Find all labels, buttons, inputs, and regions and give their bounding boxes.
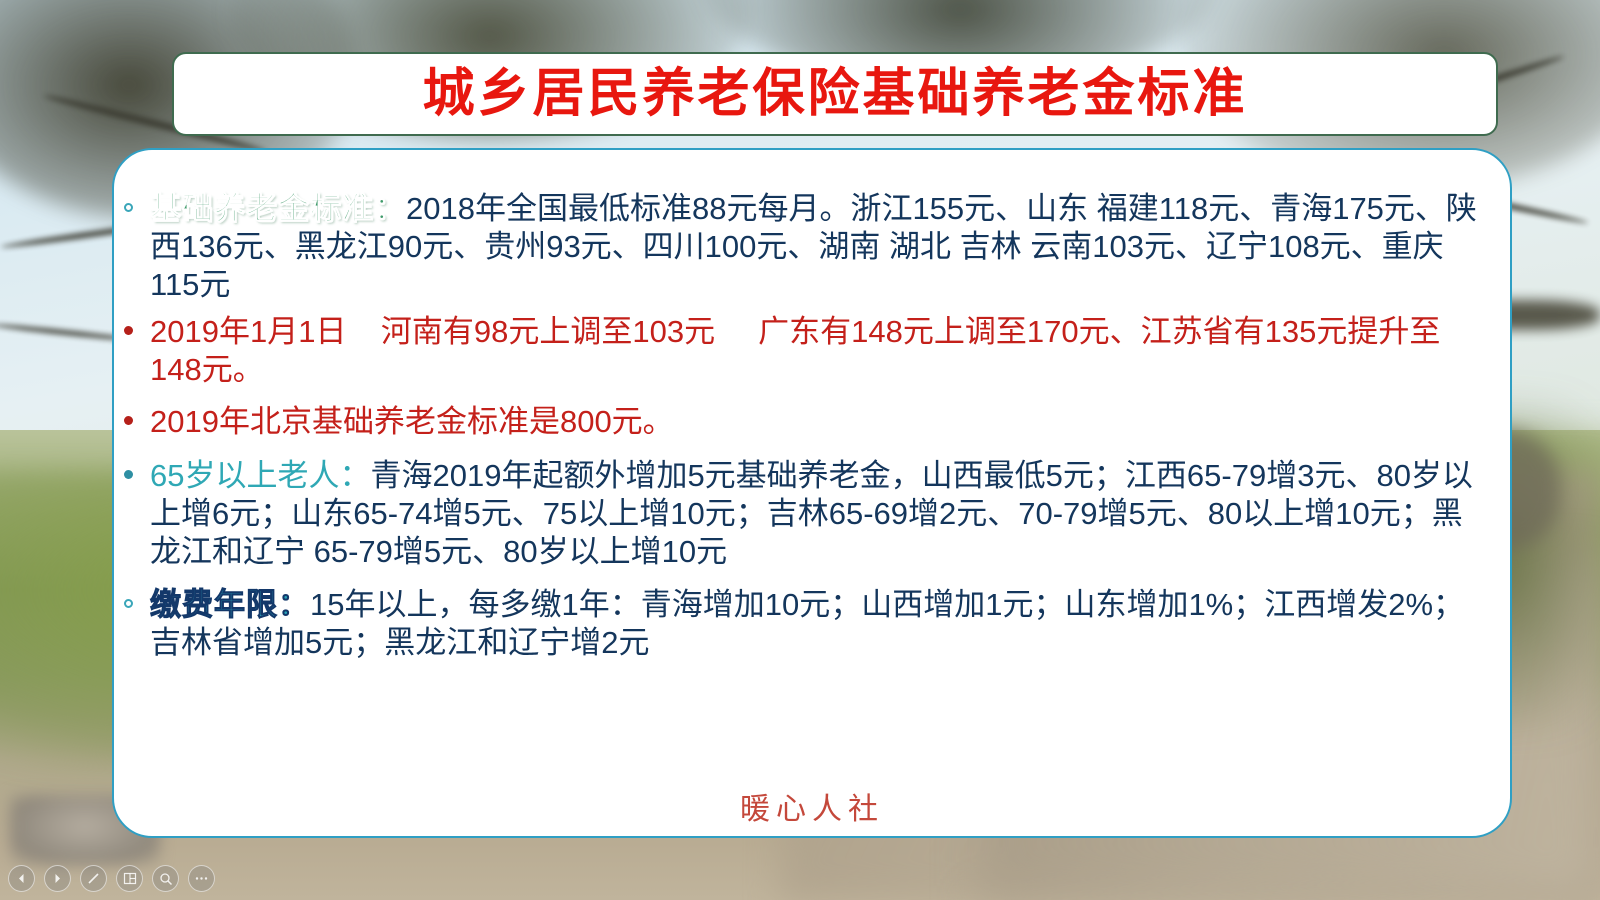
bullet-marker-dot-icon	[124, 416, 133, 425]
bullet-marker-dot-icon	[124, 470, 133, 479]
zoom-tool-icon[interactable]	[152, 865, 179, 892]
slide-title-box: 城乡居民养老保险基础养老金标准	[172, 52, 1498, 136]
bullet-item-4: 65岁以上老人：青海2019年起额外增加5元基础养老金，山西最低5元；江西65-…	[118, 457, 1488, 570]
bullet-list: 基础养老金标准：2018年全国最低标准88元每月。浙江155元、山东 福建118…	[118, 190, 1488, 672]
pen-tool-icon[interactable]	[80, 865, 107, 892]
presentation-slide: 城乡居民养老保险基础养老金标准 基础养老金标准：2018年全国最低标准88元每月…	[0, 0, 1600, 900]
bullet-item-2: 2019年1月1日 河南有98元上调至103元 广东有148元上调至170元、江…	[118, 313, 1488, 389]
bullet-item-5: 缴费年限：15年以上，每多缴1年：青海增加10元；山西增加1元；山东增加1%；江…	[118, 586, 1488, 662]
bullet-3-text: 2019年北京基础养老金标准是800元。	[150, 404, 674, 439]
bullet-marker-hollow-circle-icon	[124, 203, 133, 212]
bullet-1-lead: 基础养老金标准：	[150, 191, 406, 226]
slideshow-control-bar	[8, 865, 215, 892]
bullet-marker-dot-icon	[124, 326, 133, 335]
bullet-5-text: 15年以上，每多缴1年：青海增加10元；山西增加1元；山东增加1%；江西增发2%…	[150, 587, 1464, 660]
more-options-icon[interactable]	[188, 865, 215, 892]
bullet-5-lead: 缴费年限：	[150, 587, 310, 622]
previous-slide-icon[interactable]	[8, 865, 35, 892]
bullet-2-text: 2019年1月1日 河南有98元上调至103元 广东有148元上调至170元、江…	[150, 314, 1440, 387]
bullet-item-1: 基础养老金标准：2018年全国最低标准88元每月。浙江155元、山东 福建118…	[118, 190, 1488, 303]
bullet-item-3: 2019年北京基础养老金标准是800元。	[118, 403, 1488, 441]
bullet-4-lead: 65岁以上老人：	[150, 458, 370, 493]
all-slides-icon[interactable]	[116, 865, 143, 892]
bullet-marker-hollow-circle-icon	[124, 599, 133, 608]
slide-title: 城乡居民养老保险基础养老金标准	[422, 68, 1247, 120]
next-slide-icon[interactable]	[44, 865, 71, 892]
watermark: 暖心人社	[740, 784, 884, 828]
